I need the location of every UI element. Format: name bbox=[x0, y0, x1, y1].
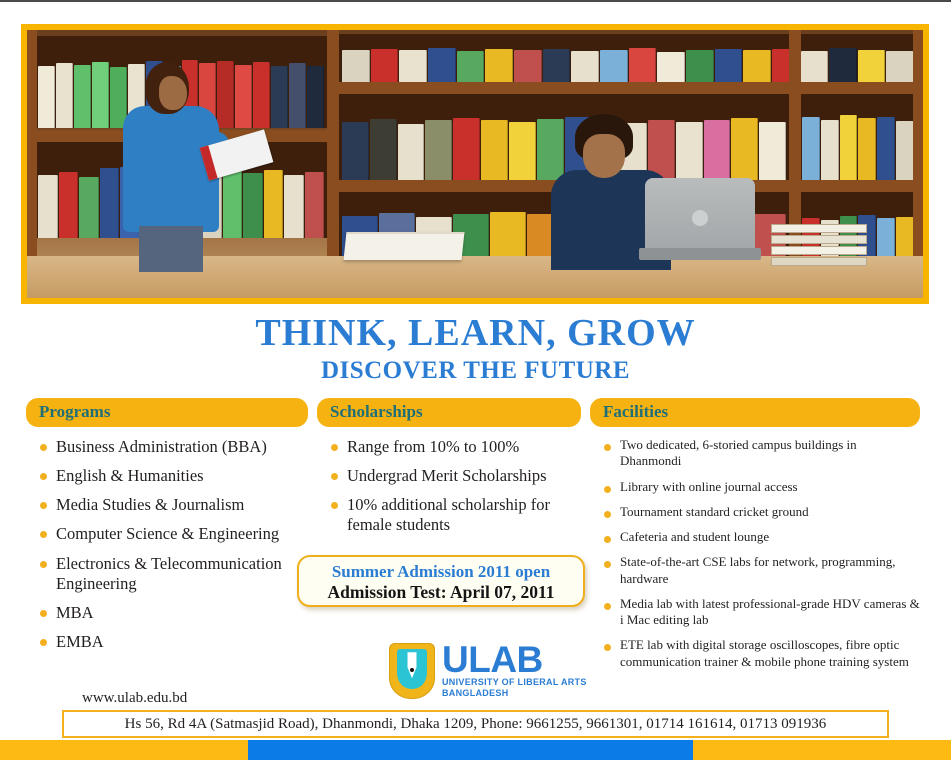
list-item: MBA bbox=[40, 603, 308, 623]
bookshelf-row bbox=[799, 90, 917, 184]
facilities-column: Facilities Two dedicated, 6-storied camp… bbox=[590, 398, 920, 679]
list-item: EMBA bbox=[40, 632, 308, 652]
library-photo-frame bbox=[21, 24, 929, 304]
footer-color-bar bbox=[0, 740, 951, 760]
scholarships-heading: Scholarships bbox=[317, 398, 581, 427]
list-item: Tournament standard cricket ground bbox=[604, 504, 920, 520]
logo-subtitle-line1: UNIVERSITY OF LIBERAL ARTS bbox=[442, 677, 587, 688]
library-photo bbox=[27, 30, 923, 298]
book-stack bbox=[771, 224, 867, 258]
logo-wordmark: ULAB UNIVERSITY OF LIBERAL ARTS BANGLADE… bbox=[442, 643, 587, 700]
facilities-list: Two dedicated, 6-storied campus building… bbox=[590, 437, 920, 670]
headline-primary: THINK, LEARN, GROW bbox=[0, 314, 951, 354]
list-item: Media Studies & Journalism bbox=[40, 495, 308, 515]
list-item: Library with online journal access bbox=[604, 479, 920, 495]
list-item: Electronics & Telecommunication Engineer… bbox=[40, 554, 308, 594]
logo-name: ULAB bbox=[442, 643, 587, 677]
list-item: Computer Science & Engineering bbox=[40, 524, 308, 544]
list-item: 10% additional scholarship for female st… bbox=[331, 495, 581, 535]
admission-callout: Summer Admission 2011 open Admission Tes… bbox=[297, 555, 585, 607]
admission-test-date: Admission Test: April 07, 2011 bbox=[299, 582, 583, 604]
shield-crest-icon bbox=[389, 643, 435, 699]
scholarships-column: Scholarships Range from 10% to 100% Unde… bbox=[317, 398, 581, 545]
list-item: State-of-the-art CSE labs for network, p… bbox=[604, 554, 920, 587]
list-item: Media lab with latest professional-grade… bbox=[604, 596, 920, 629]
laptop bbox=[639, 178, 761, 260]
list-item: Cafeteria and student lounge bbox=[604, 529, 920, 545]
list-item: Two dedicated, 6-storied campus building… bbox=[604, 437, 920, 470]
address-bar: Hs 56, Rd 4A (Satmasjid Road), Dhanmondi… bbox=[62, 710, 889, 738]
list-item: English & Humanities bbox=[40, 466, 308, 486]
programs-heading: Programs bbox=[26, 398, 308, 427]
headline-block: THINK, LEARN, GROW DISCOVER THE FUTURE bbox=[0, 314, 951, 385]
website-url[interactable]: www.ulab.edu.bd bbox=[82, 690, 187, 707]
list-item: Business Administration (BBA) bbox=[40, 437, 308, 457]
student-reading-figure bbox=[115, 62, 227, 258]
headline-secondary: DISCOVER THE FUTURE bbox=[0, 357, 951, 385]
list-item: Range from 10% to 100% bbox=[331, 437, 581, 457]
programs-column: Programs Business Administration (BBA) E… bbox=[26, 398, 308, 661]
advertisement-page: THINK, LEARN, GROW DISCOVER THE FUTURE P… bbox=[0, 0, 951, 760]
scholarships-list: Range from 10% to 100% Undergrad Merit S… bbox=[317, 437, 581, 536]
open-book bbox=[344, 232, 465, 260]
programs-list: Business Administration (BBA) English & … bbox=[26, 437, 308, 652]
list-item: Undergrad Merit Scholarships bbox=[331, 466, 581, 486]
admission-open-text: Summer Admission 2011 open bbox=[299, 561, 583, 582]
footer-blue-segment bbox=[248, 740, 693, 760]
facilities-heading: Facilities bbox=[590, 398, 920, 427]
logo-subtitle-line2: BANGLADESH bbox=[442, 688, 587, 699]
list-item: ETE lab with digital storage oscilloscop… bbox=[604, 637, 920, 670]
bookshelf-row bbox=[339, 34, 917, 86]
ulab-logo: ULAB UNIVERSITY OF LIBERAL ARTS BANGLADE… bbox=[389, 643, 587, 700]
